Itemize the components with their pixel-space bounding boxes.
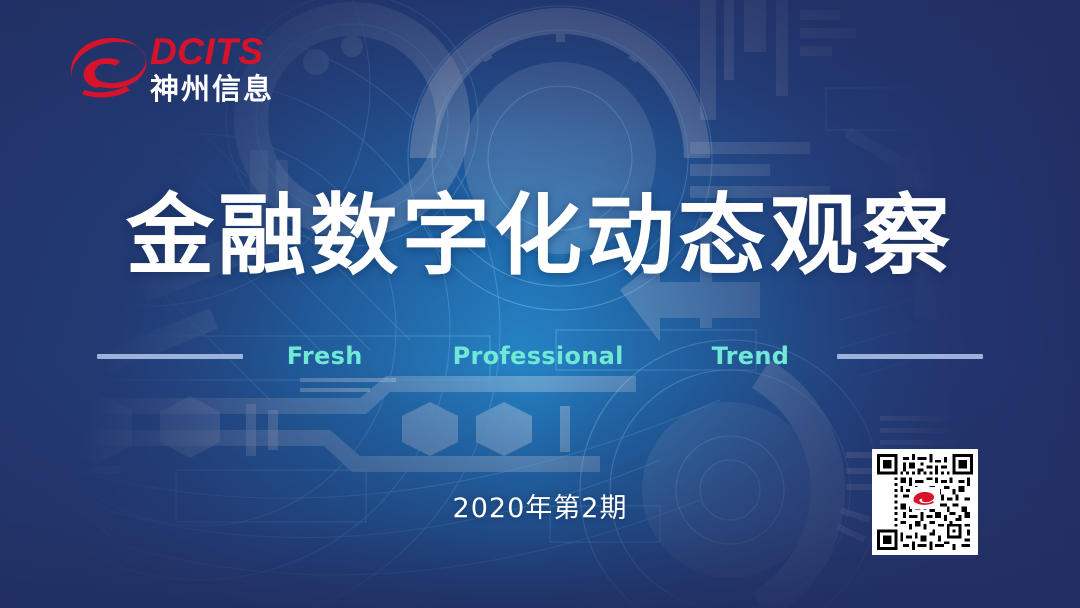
tagline-rule-left bbox=[97, 354, 243, 359]
brand-name-cn: 神州信息 bbox=[150, 73, 300, 105]
qr-code[interactable] bbox=[872, 449, 978, 555]
brand-name-latin: DCITS bbox=[150, 32, 300, 72]
presentation-cover-slide: DCITS 神州信息 金融数字化动态观察 Fresh Professional … bbox=[0, 0, 1080, 608]
page-title: 金融数字化动态观察 bbox=[0, 186, 1080, 286]
dcits-mark-icon bbox=[912, 490, 938, 506]
swoosh-spiral-icon bbox=[66, 36, 148, 102]
tagline-word-trend: Trend bbox=[712, 342, 790, 370]
tagline-word-professional: Professional bbox=[453, 342, 624, 370]
tagline-row: Fresh Professional Trend bbox=[0, 340, 1080, 372]
tagline-rule-right bbox=[837, 354, 983, 359]
brand-logo-text: DCITS 神州信息 bbox=[150, 32, 300, 105]
brand-logo: DCITS 神州信息 bbox=[66, 32, 296, 110]
tagline-word-fresh: Fresh bbox=[287, 342, 363, 370]
qr-center-logo bbox=[910, 487, 940, 509]
